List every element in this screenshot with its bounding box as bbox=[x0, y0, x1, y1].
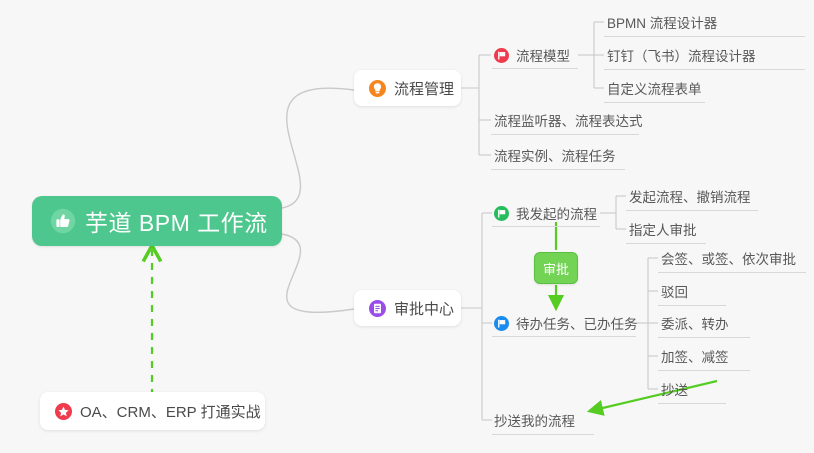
leaf-underline bbox=[491, 169, 625, 170]
node-process-model[interactable]: 流程模型 bbox=[492, 41, 574, 69]
link-root-to-approval-center bbox=[282, 234, 354, 312]
leaf-node-add-remove-sign[interactable]: 加签、减签 bbox=[659, 342, 733, 370]
node-cc-to-me-processes[interactable]: 抄送我的流程 bbox=[492, 406, 579, 434]
leaf-underline bbox=[604, 69, 805, 70]
node-label: 我发起的流程 bbox=[516, 203, 597, 223]
node-label: 钉钉（飞书）流程设计器 bbox=[607, 45, 756, 65]
node-my-started-processes[interactable]: 我发起的流程 bbox=[492, 199, 601, 227]
flow-arrow-cc-to-ccmine bbox=[590, 381, 717, 411]
leaf-node-delegate-transfer[interactable]: 委派、转办 bbox=[659, 309, 733, 337]
leaf-node-assignee-approval[interactable]: 指定人审批 bbox=[627, 215, 701, 243]
leaf-underline bbox=[658, 305, 726, 306]
node-label: 抄送 bbox=[661, 379, 688, 399]
leaf-underline bbox=[626, 210, 758, 211]
node-todo-done-tasks[interactable]: 待办任务、已办任务 bbox=[492, 309, 642, 337]
branch-label: 流程管理 bbox=[394, 78, 454, 99]
leaf-node-process-listener[interactable]: 流程监听器、流程表达式 bbox=[492, 106, 647, 134]
branch-node-process-management[interactable]: 流程管理 bbox=[354, 70, 461, 106]
node-label: 自定义流程表单 bbox=[607, 78, 702, 98]
root-node-label: 芋道 BPM 工作流 bbox=[85, 204, 268, 238]
node-label: 加签、减签 bbox=[661, 346, 729, 366]
leaf-node-custom-form[interactable]: 自定义流程表单 bbox=[605, 74, 706, 102]
flag-icon bbox=[494, 206, 509, 221]
footer-node-label: OA、CRM、ERP 打通实战 bbox=[80, 401, 261, 422]
leaf-underline bbox=[491, 134, 639, 135]
flag-icon bbox=[494, 48, 509, 63]
leaf-node-bpmn-designer[interactable]: BPMN 流程设计器 bbox=[605, 8, 721, 36]
leaf-underline bbox=[658, 403, 726, 404]
thumbs-up-icon bbox=[50, 208, 76, 234]
node-label: 流程模型 bbox=[516, 45, 570, 65]
footer-node-oa-crm-erp[interactable]: OA、CRM、ERP 打通实战 bbox=[40, 392, 265, 430]
node-label: 流程实例、流程任务 bbox=[494, 145, 616, 165]
node-label: 流程监听器、流程表达式 bbox=[494, 110, 643, 130]
flag-icon bbox=[494, 316, 509, 331]
branch-label: 审批中心 bbox=[394, 298, 454, 319]
link-root-to-process-management bbox=[282, 88, 354, 208]
node-label: 指定人审批 bbox=[629, 219, 697, 239]
node-label: 会签、或签、依次审批 bbox=[661, 248, 796, 268]
leaf-underline bbox=[604, 36, 805, 37]
branch-node-approval-center[interactable]: 审批中心 bbox=[354, 290, 461, 326]
node-label: BPMN 流程设计器 bbox=[607, 12, 717, 32]
leaf-underline bbox=[604, 102, 705, 103]
leaf-node-carbon-copy[interactable]: 抄送 bbox=[659, 375, 692, 403]
flow-box-label: 审批 bbox=[543, 259, 569, 278]
node-label: 待办任务、已办任务 bbox=[516, 313, 638, 333]
node-label: 发起流程、撤销流程 bbox=[629, 186, 751, 206]
leaf-node-process-instance[interactable]: 流程实例、流程任务 bbox=[492, 141, 620, 169]
node-label: 委派、转办 bbox=[661, 313, 729, 333]
leaf-underline bbox=[658, 272, 806, 273]
node-label: 抄送我的流程 bbox=[494, 410, 575, 430]
leaf-node-countersign[interactable]: 会签、或签、依次审批 bbox=[659, 244, 800, 272]
mindmap-canvas: 芋道 BPM 工作流 流程管理 审批中心 bbox=[0, 0, 814, 453]
flow-box-approval[interactable]: 审批 bbox=[534, 252, 578, 284]
leaf-node-dingtalk-designer[interactable]: 钉钉（飞书）流程设计器 bbox=[605, 41, 760, 69]
leaf-underline bbox=[658, 370, 750, 371]
root-node-bpm-workflow[interactable]: 芋道 BPM 工作流 bbox=[32, 196, 282, 246]
star-icon bbox=[55, 403, 72, 420]
node-label: 驳回 bbox=[661, 281, 688, 301]
leaf-node-start-cancel-process[interactable]: 发起流程、撤销流程 bbox=[627, 182, 755, 210]
bulb-icon bbox=[369, 80, 386, 97]
file-icon bbox=[369, 300, 386, 317]
leaf-underline bbox=[658, 337, 750, 338]
leaf-node-reject[interactable]: 驳回 bbox=[659, 277, 692, 305]
leaf-underline bbox=[492, 434, 594, 435]
